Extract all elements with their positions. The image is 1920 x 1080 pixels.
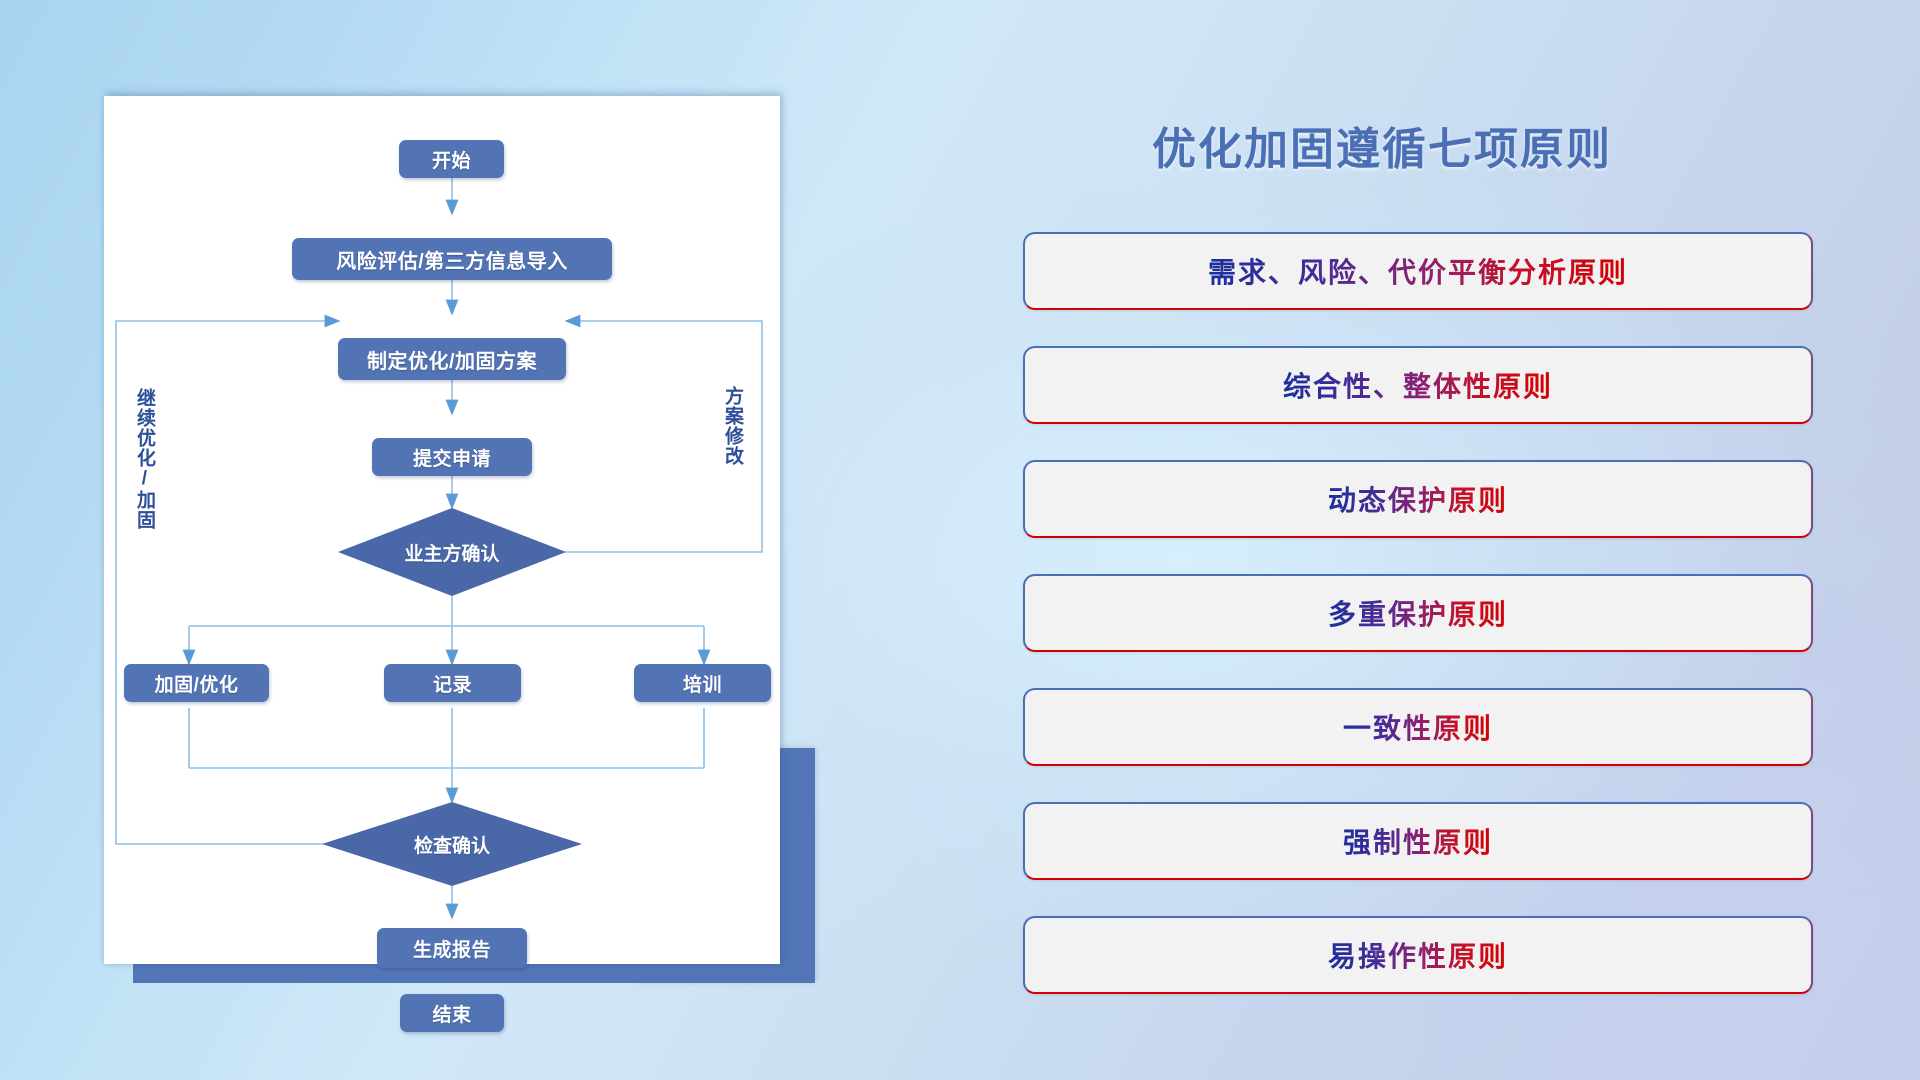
principles-list: 需求、风险、代价平衡分析原则 综合性、整体性原则 动态保护原则 多重保护原则 一… — [1023, 232, 1813, 994]
flow-node-start-label: 开始 — [432, 146, 471, 173]
flow-node-reinforce-optimize-label: 加固/优化 — [155, 670, 239, 697]
flow-edge-label-continue-optimize: 继续优化/加固 — [134, 388, 154, 530]
principle-item[interactable]: 多重保护原则 — [1023, 574, 1813, 652]
slide-canvas: 开始 风险评估/第三方信息导入 制定优化/加固方案 提交申请 业主方确认 加固/… — [0, 0, 1920, 1080]
flow-node-reinforce-optimize[interactable]: 加固/优化 — [124, 664, 269, 702]
principle-item[interactable]: 一致性原则 — [1023, 688, 1813, 766]
flow-node-generate-report-label: 生成报告 — [413, 935, 491, 962]
principle-item[interactable]: 综合性、整体性原则 — [1023, 346, 1813, 424]
principle-item-label: 动态保护原则 — [1328, 479, 1508, 519]
panel-title: 优化加固遵循七项原则 — [1152, 113, 1612, 177]
flow-node-training-label: 培训 — [683, 670, 722, 697]
flow-node-risk-assessment[interactable]: 风险评估/第三方信息导入 — [292, 238, 612, 280]
principle-item-label: 强制性原则 — [1343, 821, 1493, 861]
flow-node-make-plan[interactable]: 制定优化/加固方案 — [338, 338, 566, 380]
flow-node-owner-confirm-label: 业主方确认 — [404, 539, 499, 566]
principle-item-label: 综合性、整体性原则 — [1283, 365, 1553, 405]
principle-item[interactable]: 需求、风险、代价平衡分析原则 — [1023, 232, 1813, 310]
principle-item[interactable]: 强制性原则 — [1023, 802, 1813, 880]
flow-node-training[interactable]: 培训 — [634, 664, 771, 702]
principle-item-label: 多重保护原则 — [1328, 593, 1508, 633]
principle-item-label: 一致性原则 — [1343, 707, 1493, 747]
flow-node-risk-assessment-label: 风险评估/第三方信息导入 — [336, 245, 568, 274]
flow-edge-label-plan-revision: 方案修改 — [722, 386, 742, 466]
flow-node-submit-application-label: 提交申请 — [413, 444, 491, 471]
flow-node-end-label: 结束 — [432, 1000, 471, 1027]
principle-item-label: 易操作性原则 — [1328, 935, 1508, 975]
flow-node-owner-confirm-label-wrap[interactable]: 业主方确认 — [338, 534, 566, 570]
flow-node-submit-application[interactable]: 提交申请 — [372, 438, 532, 476]
flow-node-check-confirm-label-wrap[interactable]: 检查确认 — [338, 826, 566, 862]
flow-node-end[interactable]: 结束 — [400, 994, 504, 1032]
principle-item[interactable]: 易操作性原则 — [1023, 916, 1813, 994]
principle-item-label: 需求、风险、代价平衡分析原则 — [1208, 251, 1628, 291]
principle-item[interactable]: 动态保护原则 — [1023, 460, 1813, 538]
flow-node-make-plan-label: 制定优化/加固方案 — [367, 345, 537, 374]
flow-node-record[interactable]: 记录 — [384, 664, 521, 702]
flow-node-start[interactable]: 开始 — [399, 140, 504, 178]
flow-node-check-confirm-label: 检查确认 — [414, 831, 490, 858]
flow-node-record-label: 记录 — [433, 670, 472, 697]
flowchart-card: 开始 风险评估/第三方信息导入 制定优化/加固方案 提交申请 业主方确认 加固/… — [104, 96, 780, 964]
flow-node-generate-report[interactable]: 生成报告 — [377, 928, 527, 968]
